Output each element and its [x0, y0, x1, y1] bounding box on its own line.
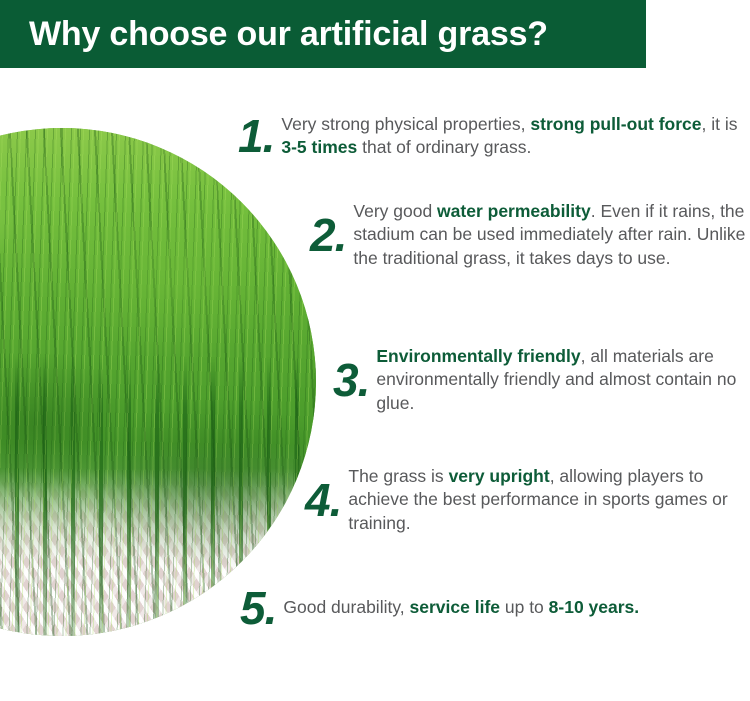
feature-item-4: 4. The grass is very upright, allowing p… [305, 465, 750, 535]
body-text: up to [500, 597, 549, 617]
body-text: Good durability, [283, 597, 409, 617]
feature-text-4: The grass is very upright, allowing play… [348, 465, 746, 535]
highlight-text: service life [410, 597, 500, 617]
body-text: Very strong physical properties, [281, 114, 530, 134]
highlight-text: very upright [449, 466, 550, 486]
feature-number-2: 2. [310, 212, 353, 258]
highlight-text: Environmentally friendly [376, 346, 580, 366]
body-text: The grass is [348, 466, 448, 486]
feature-item-2: 2. Very good water permeability. Even if… [310, 200, 750, 270]
feature-number-4: 4. [305, 477, 348, 523]
feature-text-2: Very good water permeability. Even if it… [353, 200, 745, 270]
body-text: Very good [353, 201, 437, 221]
highlight-text: water permeability [437, 201, 591, 221]
highlight-text: 3-5 times [281, 137, 357, 157]
feature-number-3: 3. [333, 357, 376, 403]
feature-item-1: 1. Very strong physical properties, stro… [238, 113, 750, 160]
feature-number-5: 5. [240, 585, 283, 631]
body-text: , it is [702, 114, 738, 134]
feature-item-5: 5. Good durability, service life up to 8… [240, 585, 750, 631]
highlight-text: 8-10 years. [549, 597, 640, 617]
highlight-text: strong pull-out force [530, 114, 701, 134]
feature-text-1: Very strong physical properties, strong … [281, 113, 750, 160]
feature-text-5: Good durability, service life up to 8-10… [283, 596, 745, 619]
body-text: that of ordinary grass. [357, 137, 531, 157]
feature-text-3: Environmentally friendly, all materials … [376, 345, 746, 415]
feature-number-1: 1. [238, 113, 281, 159]
feature-list: 1. Very strong physical properties, stro… [0, 0, 750, 701]
infographic-page: Why choose our artificial grass? 1. Very… [0, 0, 750, 701]
feature-item-3: 3. Environmentally friendly, all materia… [333, 345, 750, 415]
